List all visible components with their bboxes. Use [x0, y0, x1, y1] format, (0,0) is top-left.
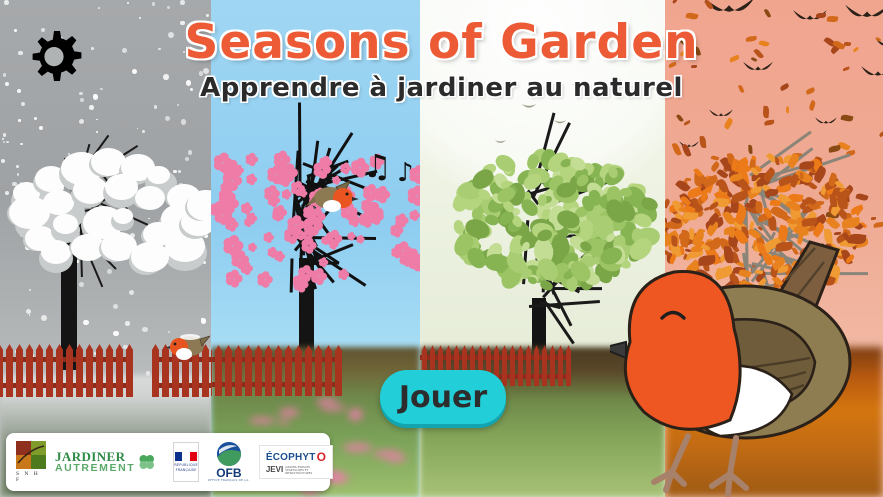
- logo-ecophyto-subtitle: JARDINS ESPACES VÉGÉTALISÉS ET INFRASTRU…: [285, 466, 326, 474]
- logo-ofb-subtitle: OFFICE FRANÇAIS DE LA BIODIVERSITÉ: [208, 479, 250, 482]
- fence-picket: [211, 350, 212, 396]
- fence-picket: [225, 350, 232, 396]
- fence-picket: [315, 350, 322, 396]
- fence-picket: [518, 350, 523, 386]
- swallow-icon: [554, 120, 566, 128]
- logo-ecophyto-subbrand: JEVI: [266, 465, 283, 474]
- clover-icon: [138, 454, 155, 471]
- snowflake: [167, 6, 170, 9]
- ground-flower: [279, 408, 299, 417]
- ground-flower: [348, 408, 363, 421]
- logo-snhf[interactable]: S N H F: [16, 441, 46, 483]
- snow-cluster: [147, 166, 170, 184]
- logo-ofb[interactable]: OFB OFFICE FRANÇAIS DE LA BIODIVERSITÉ: [208, 442, 250, 482]
- logo-ecophyto-accent: O: [317, 450, 327, 464]
- fence-picket: [16, 349, 23, 397]
- fence-spring-left: [211, 346, 342, 396]
- fence-picket: [46, 349, 53, 397]
- ground-flower: [249, 417, 274, 424]
- fence-picket: [526, 350, 531, 386]
- page-subtitle: Apprendre à jardiner au naturel: [0, 73, 883, 103]
- fence-picket: [56, 349, 63, 397]
- snowflake: [18, 119, 21, 122]
- fence-picket: [86, 349, 93, 397]
- fence-picket: [235, 350, 242, 396]
- fence-picket: [245, 350, 252, 396]
- fence-picket: [0, 349, 3, 397]
- snowflake: [34, 117, 37, 120]
- snow-cluster: [53, 214, 78, 234]
- fence-picket: [6, 349, 13, 397]
- logo-jardiner-autrement[interactable]: JARDINER AUTREMENT: [55, 450, 155, 474]
- fence-picket: [566, 350, 571, 386]
- fence-picket: [215, 350, 222, 396]
- sponsor-logo-bar: S N H F JARDINER AUTREMENT RÉPUBLIQUE FR…: [6, 433, 330, 491]
- ground-flower: [343, 443, 372, 452]
- falling-leaf: [840, 114, 853, 122]
- logo-ecophyto-caption: ÉCOPHYT: [266, 452, 316, 463]
- falling-leaf: [704, 0, 713, 10]
- robin-singing: [306, 178, 360, 218]
- snow-cluster: [135, 186, 165, 210]
- falling-leaf: [683, 120, 690, 126]
- fence-picket: [265, 350, 272, 396]
- snow-cluster: [41, 240, 71, 264]
- snow-cluster: [9, 196, 50, 229]
- page-title: Seasons of Garden: [0, 18, 883, 67]
- logo-jardiner-line2: AUTREMENT: [55, 463, 135, 474]
- snowflake: [177, 104, 179, 106]
- fence-picket: [126, 349, 133, 397]
- snowflake: [180, 0, 185, 5]
- snowflake: [154, 105, 157, 108]
- fence-winter-left: [0, 345, 133, 397]
- leaf-cluster: [766, 188, 779, 196]
- leaf-cluster: [756, 201, 763, 214]
- play-button-label: Jouer: [399, 380, 487, 415]
- logo-ecophyto[interactable]: ÉCOPHYTO JEVI JARDINS ESPACES VÉGÉTALISÉ…: [259, 445, 333, 479]
- gear-icon[interactable]: [26, 28, 82, 84]
- swallow-icon: [495, 140, 506, 147]
- robin-small-winter: [166, 330, 210, 362]
- fence-picket: [36, 349, 43, 397]
- fence-picket: [510, 350, 515, 386]
- fence-picket: [558, 350, 563, 386]
- fence-picket: [66, 349, 73, 397]
- logo-ofb-caption: OFB: [216, 467, 241, 479]
- leaf-cluster: [452, 219, 464, 234]
- snowflake: [98, 7, 100, 9]
- snowflake: [165, 116, 170, 121]
- logo-republique-francaise[interactable]: RÉPUBLIQUE FRANÇAISE: [173, 442, 199, 482]
- leaf-cluster: [710, 161, 721, 173]
- snow-cluster: [131, 242, 169, 272]
- falling-leaf: [672, 0, 678, 4]
- fence-picket: [295, 350, 302, 396]
- ofb-mark-icon: [217, 442, 241, 466]
- fence-picket: [542, 350, 547, 386]
- game-splash-screen: ♫ ♪ ♫: [0, 0, 883, 497]
- fence-picket: [255, 350, 262, 396]
- snhf-mark-icon: [16, 441, 46, 469]
- snowflake: [89, 105, 93, 109]
- fence-picket: [106, 349, 113, 397]
- french-flag-icon: [175, 452, 197, 461]
- falling-leaf: [764, 9, 772, 19]
- snowflake: [79, 119, 84, 124]
- leaf-cluster: [769, 200, 781, 208]
- fence-picket: [534, 350, 539, 386]
- ground-flower: [321, 405, 346, 411]
- fence-picket: [325, 350, 332, 396]
- snowflake: [152, 2, 156, 6]
- robin-large-foreground: [610, 222, 883, 497]
- fence-picket: [502, 350, 507, 386]
- falling-leaf: [764, 119, 775, 125]
- leaf-cluster: [829, 194, 837, 207]
- snowflake: [181, 119, 187, 125]
- fence-picket: [76, 349, 83, 397]
- swallow-icon: [522, 104, 536, 113]
- logo-snhf-caption: S N H F: [16, 471, 46, 483]
- leaf-cluster: [579, 219, 593, 229]
- falling-leaf: [676, 114, 684, 123]
- fence-picket: [116, 349, 123, 397]
- fence-picket: [305, 350, 312, 396]
- fence-picket: [335, 350, 342, 396]
- fence-picket: [275, 350, 282, 396]
- ground-flower: [277, 419, 290, 424]
- logo-rf-caption: RÉPUBLIQUE FRANÇAISE: [174, 463, 198, 472]
- snowflake: [4, 0, 8, 4]
- fence-picket: [550, 350, 555, 386]
- fence-picket: [285, 350, 292, 396]
- falling-leaf: [762, 106, 769, 118]
- fence-picket: [26, 349, 33, 397]
- snowflake: [127, 2, 130, 5]
- fence-picket: [152, 349, 159, 397]
- falling-leaf: [786, 106, 790, 113]
- title-block: Seasons of Garden Apprendre à jardiner a…: [0, 18, 883, 103]
- play-button[interactable]: Jouer: [380, 370, 506, 424]
- ground-flower: [386, 455, 407, 462]
- settings-button[interactable]: [26, 28, 82, 84]
- fence-picket: [96, 349, 103, 397]
- snowflake: [96, 119, 98, 121]
